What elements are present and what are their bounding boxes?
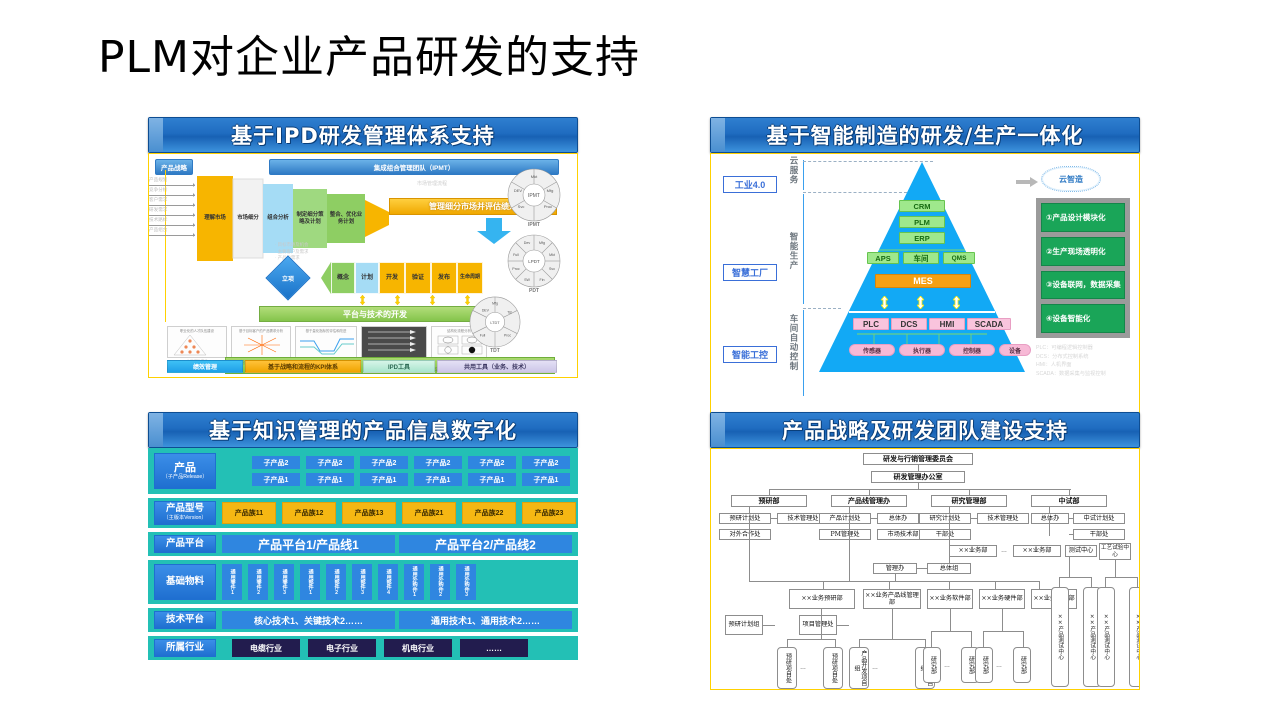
km-material-9: 通用外购件3	[456, 564, 476, 600]
km-row-model: 产品型号 （主版本Version） 产品族11 产品族12 产品族13 产品族2…	[148, 498, 578, 528]
ipd-funnel-input-3-label: 研发需求	[149, 207, 167, 213]
ipd-stage-link-arrows	[345, 295, 485, 305]
ipd-stage-1: 计划	[355, 262, 379, 294]
ipd-funnel-input-1-label: 竞争分析	[149, 187, 167, 193]
ipd-funnel-input-2-label: 客户需求	[149, 197, 167, 203]
ipd-wheel-tdt: LTDT DEV Tst Mfg Full Proc TDT	[469, 296, 521, 354]
ipd-funnel-input-2-arrow-icon	[149, 205, 195, 206]
km-row-industry: 所属行业 电缆行业 电子行业 机电行业 ……	[148, 636, 578, 660]
ipd-funnel-input-4-arrow-icon	[149, 225, 195, 226]
ipd-funnel-input-5-arrow-icon	[149, 235, 195, 236]
pyr-chip-aps: APS	[867, 252, 899, 264]
ipd-footer-chip-3[interactable]: 共用工具（业务、技术）	[437, 360, 557, 373]
ipd-stage-0: 概念	[331, 262, 355, 294]
km-tech-1: 通用技术1、通用技术2……	[399, 611, 572, 629]
km-family-1: 产品族12	[282, 502, 336, 524]
km-subproduct-top-4: 子产品2	[468, 456, 516, 469]
org-bottom-0-dots: …	[800, 665, 806, 671]
ipd-thumbnail-2: 基于量化指标的评估和改进	[295, 326, 357, 358]
km-material-8: 通用外购件2	[430, 564, 450, 600]
svg-text:Full: Full	[513, 253, 519, 257]
km-row-platform-label: 产品平台	[154, 535, 216, 553]
sm-axis-bottom	[803, 310, 804, 396]
sm-legend: PLC：可编程逻辑控制器DCS：分布式控制系统HMI：人机界面SCADA：数据采…	[1036, 344, 1106, 378]
ipd-strategy-tag: 产品战略	[155, 159, 193, 175]
panel-ipd-header: 基于IPD研发管理体系支持	[148, 117, 578, 153]
page-title: PLM对企业产品研发的支持	[98, 32, 640, 84]
svg-text:Mfg: Mfg	[492, 302, 498, 306]
sm-vert-cloud-service: 云服务	[785, 156, 798, 185]
sm-label-industry40: 工业4.0	[723, 176, 777, 193]
pyr-oval-actuator: 执行器	[899, 344, 945, 356]
panel-org-header-text: 产品战略及研发团队建设支持	[782, 415, 1068, 445]
panel-knowledge-management: 基于知识管理的产品信息数字化 产品 （子产品Release） 子产品2 子产品1…	[148, 412, 578, 688]
km-row-platform: 产品平台 产品平台1/产品线1 产品平台2/产品线2	[148, 532, 578, 556]
ipd-funnel-input-5: 产品组合	[149, 228, 197, 238]
sm-pyramid: CRM PLM ERP APS 车间 QMS MES PLC DCS HMI S…	[819, 162, 1025, 372]
svg-text:LTDT: LTDT	[490, 321, 500, 325]
pyr-chip-plc: PLC	[853, 318, 889, 330]
sm-axis-mid	[803, 194, 804, 304]
svg-text:Mkt: Mkt	[549, 253, 555, 257]
km-subproduct-bot-2: 子产品1	[360, 473, 408, 486]
km-row-model-label-sub: （主版本Version）	[163, 515, 206, 521]
panel-org-header: 产品战略及研发团队建设支持	[710, 412, 1140, 448]
ipd-wheel-tdt-caption: TDT	[469, 348, 521, 354]
km-row-product-label-big: 产品	[174, 462, 196, 475]
km-subproduct-top-5: 子产品2	[522, 456, 570, 469]
org-dept0-child-0: 预研计划处	[719, 513, 771, 524]
svg-text:DEV: DEV	[514, 188, 523, 193]
ipd-wheel-pdt-caption: PDT	[507, 288, 561, 294]
km-row-tech: 技术平台 核心技术1、关键技术2…… 通用技术1、通用技术2……	[148, 608, 578, 632]
ipd-stage-3: 验证	[405, 262, 431, 294]
pyr-chip-hmi: HMI	[929, 318, 965, 330]
org-dept-2: 研究管理部	[931, 495, 1007, 507]
sm-green-item-3: ④设备智能化	[1041, 304, 1125, 333]
ipd-stage-2: 开发	[379, 262, 405, 294]
svg-text:Proc: Proc	[512, 267, 520, 271]
panel-km-header-text: 基于知识管理的产品信息数字化	[209, 415, 517, 445]
org-side-0: 预研计划组	[725, 615, 763, 635]
panel-org-body: 研发与行销管理委员会 研发管理办公室 预研部 产品线管理办 研究管理部 中试部 …	[710, 448, 1140, 690]
svg-text:Mkt: Mkt	[531, 174, 538, 179]
org-bottom-3-0: 研究部	[975, 647, 993, 683]
km-row-industry-label-big: 所属行业	[166, 643, 204, 654]
ipd-stage-5: 生命周期	[457, 262, 483, 294]
ipd-funnel-inputs: 产品规划竞争分析客户需求研发需求技术路标产品组合	[149, 178, 197, 240]
svg-text:DEV: DEV	[482, 308, 490, 312]
org-testcenter-3: ××产品测试中心	[1129, 587, 1140, 687]
ipd-funnel-input-3-arrow-icon	[149, 215, 195, 216]
ipd-funnel-input-0-label: 产品规划	[149, 177, 167, 183]
ipd-down-arrow-icon	[477, 218, 511, 244]
sm-axis-top	[803, 160, 804, 190]
panel-ipd: 基于IPD研发管理体系支持 产品战略 集成组合管理团队（IPMT） 产品规划竞争…	[148, 117, 578, 378]
org-dept2-child-2: 干部处	[919, 529, 971, 540]
km-family-4: 产品族22	[462, 502, 516, 524]
km-platform-1: 产品平台2/产品线2	[399, 535, 572, 553]
org-dept0-child-2: 对外合作处	[719, 529, 771, 540]
sm-cloud-icon: 云智造	[1041, 166, 1101, 192]
km-family-0: 产品族11	[222, 502, 276, 524]
svg-text:Svc: Svc	[518, 204, 525, 209]
ipd-wheel-ipmt: IPMT Mkt Mfg Proc Svc DEV IPMT	[507, 168, 561, 228]
pyr-arrow-0-icon	[881, 296, 888, 309]
panel-smart-header: 基于智能制造的研发/生产一体化	[710, 117, 1140, 153]
svg-text:Full: Full	[480, 333, 486, 337]
km-row-materials-label-big: 基础物料	[166, 577, 204, 588]
org-bu-0: ××业务部	[949, 545, 997, 557]
org-bottom-1-0: 产品开发项目组	[849, 647, 869, 689]
panel-km-header: 基于知识管理的产品信息数字化	[148, 412, 578, 448]
km-subproduct-top-2: 子产品2	[360, 456, 408, 469]
km-row-model-label: 产品型号 （主版本Version）	[154, 501, 216, 525]
ipd-decision-label: 立项	[272, 262, 304, 294]
svg-text:Mfg: Mfg	[539, 241, 545, 245]
org-dept2-child-1: 技术管理处	[977, 513, 1029, 524]
km-platform-0: 产品平台1/产品线1	[222, 535, 395, 553]
km-row-tech-label-big: 技术平台	[166, 615, 204, 626]
pyr-chip-mes: MES	[875, 274, 971, 288]
pyr-arrow-1-icon	[917, 296, 924, 309]
ipd-footer-chip-2[interactable]: IPD工具	[363, 360, 435, 373]
pyr-chip-plm: PLM	[899, 216, 945, 228]
ipd-thumbnail-3	[361, 326, 427, 358]
pyr-chip-workshop: 车间	[903, 252, 939, 264]
ipd-funnel-input-4-label: 技术路标	[149, 217, 167, 223]
pyr-chip-erp: ERP	[899, 232, 945, 244]
sm-label-smart-control: 智能工控	[723, 346, 777, 363]
org-bottom-2-0: 研究部	[923, 647, 941, 683]
org-dept-3: 中试部	[1031, 495, 1107, 507]
svg-text:Svc: Svc	[549, 267, 555, 271]
km-subproduct-bot-0: 子产品1	[252, 473, 300, 486]
svg-text:LPDT: LPDT	[528, 259, 540, 264]
km-industry-0: 电缆行业	[232, 639, 300, 657]
org-second: 研发管理办公室	[871, 471, 965, 483]
org-dept1-child-1: 总体办	[877, 513, 919, 524]
org-process-lab: 工艺试验中心	[1099, 543, 1131, 560]
org-bu-1: ××业务部	[1013, 545, 1061, 557]
org-top: 研发与行销管理委员会	[863, 453, 973, 465]
km-row-materials: 基础物料 通用零件1 通用零件2 通用零件3 通用部件1 通用部件2 通用部件3…	[148, 560, 578, 604]
org-bottom-0-0: 预研项目处	[777, 647, 797, 689]
org-general-group: 总体组	[927, 563, 971, 574]
km-material-1: 通用零件2	[248, 564, 268, 600]
km-material-2: 通用零件3	[274, 564, 294, 600]
svg-text:Fin: Fin	[540, 278, 545, 282]
pyr-arrow-2-icon	[953, 296, 960, 309]
svg-text:Proc: Proc	[544, 204, 552, 209]
org-testcenter-0: ××产品测试中心	[1051, 587, 1069, 687]
km-material-0: 通用零件1	[222, 564, 242, 600]
km-family-2: 产品族13	[342, 502, 396, 524]
km-tech-0: 核心技术1、关键技术2……	[222, 611, 395, 629]
km-row-product: 产品 （子产品Release） 子产品2 子产品1 子产品2 子产品1 子产品2…	[148, 448, 578, 494]
km-row-product-label-sub: （子产品Release）	[163, 474, 208, 480]
org-dept-1: 产品线管理办	[831, 495, 907, 507]
ipd-funnel-input-0-arrow-icon	[149, 185, 195, 186]
panel-ipd-header-text: 基于IPD研发管理体系支持	[231, 120, 495, 150]
svg-text:Dev: Dev	[524, 241, 531, 245]
km-subproduct-top-0: 子产品2	[252, 456, 300, 469]
km-row-tech-label: 技术平台	[154, 611, 216, 629]
km-subproduct-bot-5: 子产品1	[522, 473, 570, 486]
km-subproduct-top-3: 子产品2	[414, 456, 462, 469]
org-mid-0: ××业务预研部	[789, 589, 855, 609]
ipd-wheel-ipmt-caption: IPMT	[507, 222, 561, 228]
sm-cloud-arrow-icon	[1016, 174, 1038, 184]
pyr-chip-qms: QMS	[943, 252, 975, 264]
svg-text:Mfg: Mfg	[547, 188, 554, 193]
ipd-process-stages: 概念 计划 开发 验证 发布 生命周期	[321, 262, 483, 294]
km-subproduct-top-1: 子产品2	[306, 456, 354, 469]
ipd-stage-4: 发布	[431, 262, 457, 294]
ipd-thumbnail-0: 职业化的人才队伍建设	[167, 326, 227, 358]
km-material-7: 通用外购件1	[404, 564, 424, 600]
org-bottom-3-dots: …	[996, 663, 1002, 669]
org-dept3-child-1: 中试计划处	[1073, 513, 1125, 524]
org-mgmt-office: 管理办	[873, 563, 917, 574]
sm-green-item-1: ②生产现场透明化	[1041, 237, 1125, 266]
pyr-chip-dcs: DCS	[891, 318, 927, 330]
km-material-4: 通用部件2	[326, 564, 346, 600]
km-row-product-label: 产品 （子产品Release）	[154, 453, 216, 489]
km-row-industry-label: 所属行业	[154, 639, 216, 657]
sm-vert-workshop-control: 车间自动控制	[785, 314, 798, 371]
panel-org-chart: 产品战略及研发团队建设支持 研发与行销管理委员会 研发管理办公室 预研部 产品线…	[710, 412, 1140, 690]
panel-smart-body: 工业4.0 智慧工厂 智能工控 云服务 智能生产 车间自动控制 CRM	[710, 153, 1140, 418]
org-side-1: 项目管理处	[799, 615, 837, 635]
pyr-oval-sensor: 传感器	[849, 344, 895, 356]
svg-text:Tst: Tst	[507, 310, 511, 314]
km-material-6: 通用部件4	[378, 564, 398, 600]
org-dept-0: 预研部	[731, 495, 807, 507]
ipd-funnel-input-1-arrow-icon	[149, 195, 195, 196]
org-bu-dots: …	[1001, 548, 1007, 554]
pyr-chip-scada: SCADA	[967, 318, 1011, 330]
km-material-3: 通用部件1	[300, 564, 320, 600]
pyr-chip-crm: CRM	[899, 200, 945, 212]
sm-green-item-0: ①产品设计模块化	[1041, 203, 1125, 232]
ipd-wheel-pdt: LPDT Dev Mfg Mkt Svc Fin SW Proc Full PD…	[507, 234, 561, 294]
funnel-stage-1: 市场细分	[233, 176, 263, 261]
panel-smart-header-text: 基于智能制造的研发/生产一体化	[767, 120, 1084, 150]
svg-text:Proc: Proc	[504, 333, 511, 337]
panel-ipd-body: 产品战略 集成组合管理团队（IPMT） 产品规划竞争分析客户需求研发需求技术路标…	[148, 153, 578, 378]
pyr-oval-controller: 控制器	[949, 344, 995, 356]
org-bottom-3-1: 研究部	[1013, 647, 1031, 683]
km-row-model-label-big: 产品型号	[166, 504, 204, 515]
km-industry-2: 机电行业	[384, 639, 452, 657]
org-test-center: 测试中心	[1065, 545, 1097, 557]
km-family-3: 产品族21	[402, 502, 456, 524]
sm-green-items-box: ①产品设计模块化 ②生产现场透明化 ③设备联网，数据采集 ④设备智能化	[1036, 198, 1130, 338]
sm-vert-smart-production: 智能生产	[785, 232, 798, 270]
ipd-platform-bar: 平台与技术的开发	[259, 306, 491, 322]
km-row-materials-label: 基础物料	[154, 564, 216, 600]
ipd-footer-chip-0[interactable]: 绩效管理	[167, 360, 243, 373]
ipd-market-process-note: 市场管理流程	[417, 180, 447, 187]
ipd-thumbnail-1: 基于目标客户的产品需求分析	[231, 326, 291, 358]
panel-smart-manufacturing: 基于智能制造的研发/生产一体化 工业4.0 智慧工厂 智能工控 云服务 智能生产…	[710, 117, 1140, 418]
ipd-footer-chip-1[interactable]: 基于战略和流程的KPI体系	[245, 360, 361, 373]
org-mid-1: ××业务产品线管理部	[863, 589, 921, 609]
ipd-footer-strip: 绩效管理 基于战略和流程的KPI体系 IPD工具 共用工具（业务、技术）	[167, 360, 557, 373]
org-dept3-child-2: 干部处	[1073, 529, 1125, 540]
km-material-5: 通用部件3	[352, 564, 372, 600]
funnel-stage-4: 整合、优化业务计划	[327, 176, 365, 261]
org-testcenter-2: ××产品测试中心	[1097, 587, 1115, 687]
pyr-oval-equipment: 设备	[999, 344, 1031, 356]
km-family-5: 产品族23	[522, 502, 576, 524]
svg-text:SW: SW	[524, 278, 530, 282]
sm-green-item-2: ③设备联网，数据采集	[1041, 271, 1125, 300]
km-industry-1: 电子行业	[308, 639, 376, 657]
km-row-platform-label-big: 产品平台	[166, 539, 204, 550]
org-dept3-child-0: 总体办	[1031, 513, 1069, 524]
km-subproduct-bot-4: 子产品1	[468, 473, 516, 486]
km-subproduct-bot-1: 子产品1	[306, 473, 354, 486]
org-dept1-child-2: PM管理处	[819, 529, 871, 540]
org-mid-3: ××业务硬件部	[979, 589, 1025, 609]
km-subproduct-bot-3: 子产品1	[414, 473, 462, 486]
sm-label-smart-factory: 智慧工厂	[723, 264, 777, 281]
svg-text:IPMT: IPMT	[528, 193, 540, 199]
org-dept2-child-0: 研究计划处	[919, 513, 971, 524]
panel-km-body: 产品 （子产品Release） 子产品2 子产品1 子产品2 子产品1 子产品2…	[148, 448, 578, 688]
funnel-stage-0: 理解市场	[197, 176, 233, 261]
org-bottom-0-1: 预研项目处	[823, 647, 843, 689]
km-industry-3: ……	[460, 639, 528, 657]
org-bottom-2-dots: …	[944, 663, 950, 669]
org-bottom-1-dots: …	[872, 665, 878, 671]
ipd-funnel-input-5-label: 产品组合	[149, 227, 167, 233]
org-mid-2: ××业务软件部	[927, 589, 973, 609]
org-dept1-child-0: 产品计划处	[819, 513, 871, 524]
